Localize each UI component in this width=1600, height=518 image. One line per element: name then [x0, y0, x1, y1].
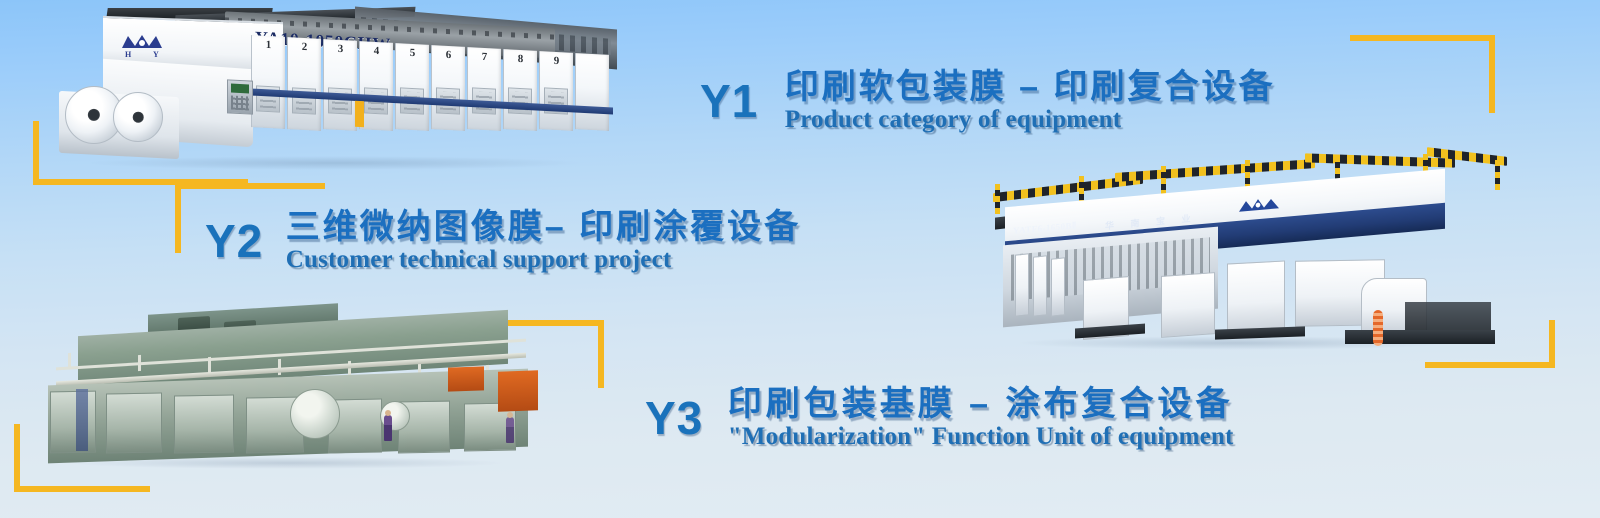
unit-control-panel — [328, 87, 352, 114]
bracket-top-right — [1350, 35, 1495, 113]
entry-code-y3: Y3 — [645, 395, 703, 441]
print-unit: 9 — [539, 51, 573, 131]
bracket-line-vertical — [598, 320, 604, 388]
bracket-line-vertical — [14, 424, 20, 492]
print-unit-number: 5 — [410, 48, 416, 59]
print-unit: 8 — [503, 49, 537, 131]
machine-roller-cluster — [1015, 253, 1029, 316]
machine-catwalk-post — [138, 355, 141, 371]
print-unit-number: 8 — [518, 54, 524, 65]
machine-module — [1161, 272, 1215, 338]
entry-code-y1: Y1 — [700, 78, 758, 124]
worker-figure — [506, 417, 514, 443]
print-unit-number: 9 — [554, 56, 560, 67]
bracket-line-horizontal — [175, 183, 325, 189]
hy-brand-logo-icon — [1237, 195, 1281, 217]
machine-photo-coating-line — [28, 305, 573, 480]
entry-y1: Y1 印刷软包装膜 – 印刷复合设备 Product category of e… — [700, 68, 1276, 135]
entry-titles-y3: 印刷包装基膜 – 涂布复合设备 "Modularization" Functio… — [728, 385, 1234, 452]
safety-railing-top — [1115, 159, 1315, 182]
print-unit-end — [575, 53, 609, 131]
machine-orange-housing — [448, 366, 484, 391]
machine-roller-cluster — [1033, 255, 1047, 316]
bracket-line-vertical — [1549, 320, 1555, 368]
machine-station — [174, 394, 234, 453]
entry-titles-y2: 三维微纳图像膜– 印刷涂覆设备 Customer technical suppo… — [286, 208, 801, 275]
machine-cable-coil — [1373, 310, 1383, 346]
entry-title-cn-y2: 三维微纳图像膜– 印刷涂覆设备 — [286, 208, 801, 246]
machine-reel-small — [113, 92, 163, 142]
entry-y2: Y2 三维微纳图像膜– 印刷涂覆设备 Customer technical su… — [205, 208, 801, 275]
print-unit: 2 — [287, 37, 321, 131]
machine-large-drum — [290, 389, 340, 439]
safety-railing-post — [995, 184, 1000, 214]
print-unit-number: 4 — [374, 46, 380, 57]
equipment-product-banner: H Y YA10-1050CIIW 1 2 3 4 5 — [0, 0, 1600, 518]
entry-y3: Y3 印刷包装基膜 – 涂布复合设备 "Modularization" Func… — [645, 385, 1234, 452]
machine-roller-cluster — [1051, 257, 1065, 316]
machine-catwalk-post — [68, 353, 71, 369]
machine-web-rollers — [1405, 302, 1491, 330]
bracket-line-horizontal — [1350, 35, 1495, 41]
machine-catwalk-post — [208, 357, 211, 373]
entry-title-en-y3: "Modularization" Function Unit of equipm… — [728, 423, 1234, 452]
machine-station — [106, 393, 162, 454]
machine-base-frame — [1345, 330, 1495, 344]
print-unit: 5 — [395, 43, 429, 131]
print-unit: 1 — [251, 35, 285, 129]
machine-yellow-post — [355, 101, 364, 127]
svg-text:H: H — [125, 50, 132, 58]
print-unit-number: 1 — [266, 40, 272, 51]
print-unit: 3 — [323, 39, 357, 131]
safety-railing-post — [1245, 160, 1250, 188]
bracket-line-vertical — [33, 121, 39, 185]
machine-station — [50, 391, 96, 454]
machine-operator-console — [227, 79, 253, 114]
bracket-line-horizontal — [14, 486, 150, 492]
machine-photo-printing-press: H Y YA10-1050CIIW 1 2 3 4 5 — [55, 6, 605, 181]
svg-text:Y: Y — [153, 50, 159, 58]
worker-figure — [384, 415, 392, 441]
machine-photo-laminator: YATF6-1650BⅡ 华 南 宝 业 — [975, 150, 1520, 360]
print-unit-number: 3 — [338, 44, 344, 55]
print-unit-number: 6 — [446, 50, 452, 61]
entry-code-y2: Y2 — [205, 218, 263, 264]
safety-railing-post — [1495, 160, 1500, 190]
unit-control-panel — [508, 87, 532, 114]
print-unit-number: 7 — [482, 52, 488, 63]
bracket-line-vertical — [1489, 35, 1495, 113]
entry-title-cn-y1: 印刷软包装膜 – 印刷复合设备 — [785, 68, 1276, 106]
print-unit: 6 — [431, 45, 465, 131]
machine-orange-housing — [498, 370, 538, 411]
bracket-line-vertical — [175, 183, 181, 253]
entry-title-en-y1: Product category of equipment — [785, 106, 1276, 135]
machine-module — [1227, 260, 1285, 337]
print-unit: 4 — [359, 41, 393, 131]
bracket-line-horizontal — [1425, 362, 1555, 368]
hy-brand-logo-icon: H Y — [118, 32, 170, 58]
entry-title-en-y2: Customer technical support project — [286, 246, 801, 275]
entry-title-cn-y3: 印刷包装基膜 – 涂布复合设备 — [728, 385, 1234, 423]
machine-web-sheet — [76, 389, 88, 451]
print-unit: 7 — [467, 47, 501, 131]
print-unit-number: 2 — [302, 42, 308, 53]
entry-titles-y1: 印刷软包装膜 – 印刷复合设备 Product category of equi… — [785, 68, 1276, 135]
safety-railing-post — [1161, 166, 1166, 196]
